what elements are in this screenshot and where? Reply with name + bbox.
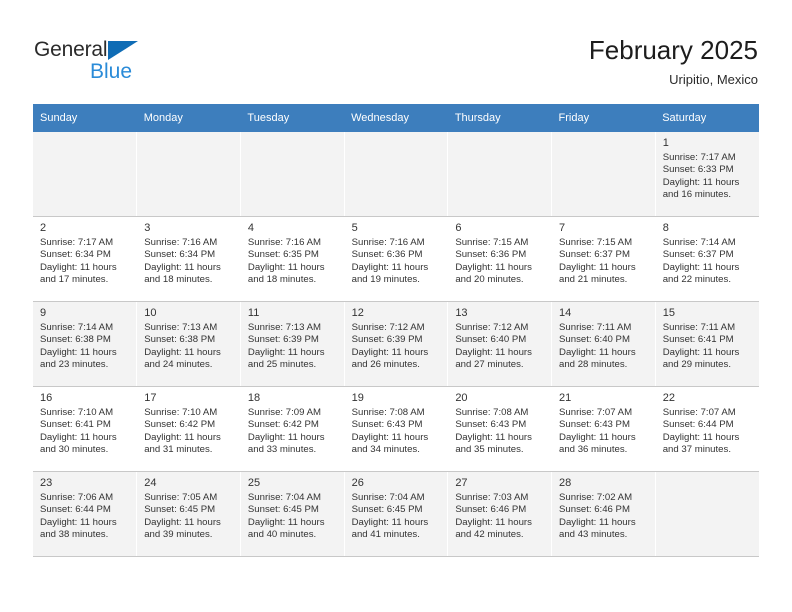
day-cell[interactable]: 3Sunrise: 7:16 AM Sunset: 6:34 PM Daylig… [137, 217, 241, 302]
day-cell[interactable]: 4Sunrise: 7:16 AM Sunset: 6:35 PM Daylig… [240, 217, 344, 302]
day-details: Sunrise: 7:08 AM Sunset: 6:43 PM Dayligh… [455, 407, 545, 457]
day-cell[interactable]: 2Sunrise: 7:17 AM Sunset: 6:34 PM Daylig… [33, 217, 137, 302]
calendar-page: General Blue February 2025 Uripitio, Mex… [0, 0, 792, 612]
day-number: 18 [248, 391, 338, 405]
day-number: 12 [352, 306, 442, 320]
day-number: 21 [559, 391, 649, 405]
day-number: 3 [144, 221, 234, 235]
day-number: 20 [455, 391, 545, 405]
day-details: Sunrise: 7:13 AM Sunset: 6:38 PM Dayligh… [144, 322, 234, 372]
day-cell[interactable]: 13Sunrise: 7:12 AM Sunset: 6:40 PM Dayli… [448, 302, 552, 387]
day-cell[interactable]: 23Sunrise: 7:06 AM Sunset: 6:44 PM Dayli… [33, 472, 137, 557]
day-cell[interactable]: 19Sunrise: 7:08 AM Sunset: 6:43 PM Dayli… [344, 387, 448, 472]
logo-triangle-icon [108, 41, 138, 60]
day-details: Sunrise: 7:17 AM Sunset: 6:33 PM Dayligh… [663, 152, 753, 202]
day-number: 25 [248, 476, 338, 490]
day-details: Sunrise: 7:10 AM Sunset: 6:42 PM Dayligh… [144, 407, 234, 457]
day-details: Sunrise: 7:14 AM Sunset: 6:38 PM Dayligh… [40, 322, 130, 372]
day-cell-empty [448, 132, 552, 217]
day-cell[interactable]: 26Sunrise: 7:04 AM Sunset: 6:45 PM Dayli… [344, 472, 448, 557]
calendar-header-row: Sunday Monday Tuesday Wednesday Thursday… [33, 104, 759, 132]
day-number: 23 [40, 476, 130, 490]
day-details: Sunrise: 7:16 AM Sunset: 6:34 PM Dayligh… [144, 237, 234, 287]
day-details: Sunrise: 7:14 AM Sunset: 6:37 PM Dayligh… [663, 237, 753, 287]
day-cell[interactable]: 5Sunrise: 7:16 AM Sunset: 6:36 PM Daylig… [344, 217, 448, 302]
day-cell[interactable]: 20Sunrise: 7:08 AM Sunset: 6:43 PM Dayli… [448, 387, 552, 472]
day-number: 8 [663, 221, 753, 235]
weekday-header-sunday: Sunday [33, 104, 137, 132]
day-number: 10 [144, 306, 234, 320]
day-details: Sunrise: 7:04 AM Sunset: 6:45 PM Dayligh… [248, 492, 338, 542]
day-cell[interactable]: 16Sunrise: 7:10 AM Sunset: 6:41 PM Dayli… [33, 387, 137, 472]
day-number: 2 [40, 221, 130, 235]
day-number: 17 [144, 391, 234, 405]
day-number: 28 [559, 476, 649, 490]
calendar-week-row: 1Sunrise: 7:17 AM Sunset: 6:33 PM Daylig… [33, 132, 759, 217]
day-number: 7 [559, 221, 649, 235]
calendar-week-row: 2Sunrise: 7:17 AM Sunset: 6:34 PM Daylig… [33, 217, 759, 302]
logo-text-general: General [34, 38, 107, 62]
day-details: Sunrise: 7:05 AM Sunset: 6:45 PM Dayligh… [144, 492, 234, 542]
day-cell[interactable]: 17Sunrise: 7:10 AM Sunset: 6:42 PM Dayli… [137, 387, 241, 472]
day-cell-empty [137, 132, 241, 217]
day-number: 5 [352, 221, 442, 235]
day-number: 15 [663, 306, 753, 320]
day-number: 9 [40, 306, 130, 320]
day-details: Sunrise: 7:07 AM Sunset: 6:43 PM Dayligh… [559, 407, 649, 457]
calendar-week-row: 23Sunrise: 7:06 AM Sunset: 6:44 PM Dayli… [33, 472, 759, 557]
day-cell-empty [552, 132, 656, 217]
day-details: Sunrise: 7:09 AM Sunset: 6:42 PM Dayligh… [248, 407, 338, 457]
general-blue-logo[interactable]: General Blue [34, 38, 234, 86]
day-cell[interactable]: 8Sunrise: 7:14 AM Sunset: 6:37 PM Daylig… [655, 217, 759, 302]
day-number: 16 [40, 391, 130, 405]
weekday-header-saturday: Saturday [655, 104, 759, 132]
day-details: Sunrise: 7:16 AM Sunset: 6:36 PM Dayligh… [352, 237, 442, 287]
day-cell-empty [344, 132, 448, 217]
day-number: 1 [663, 136, 753, 150]
page-subtitle-location: Uripitio, Mexico [589, 70, 758, 90]
weekday-header-wednesday: Wednesday [344, 104, 448, 132]
day-number: 13 [455, 306, 545, 320]
day-cell-empty [655, 472, 759, 557]
day-number: 11 [248, 306, 338, 320]
day-cell[interactable]: 15Sunrise: 7:11 AM Sunset: 6:41 PM Dayli… [655, 302, 759, 387]
day-cell[interactable]: 1Sunrise: 7:17 AM Sunset: 6:33 PM Daylig… [655, 132, 759, 217]
day-number: 4 [248, 221, 338, 235]
day-details: Sunrise: 7:16 AM Sunset: 6:35 PM Dayligh… [248, 237, 338, 287]
weekday-header-monday: Monday [137, 104, 241, 132]
day-details: Sunrise: 7:12 AM Sunset: 6:40 PM Dayligh… [455, 322, 545, 372]
day-details: Sunrise: 7:12 AM Sunset: 6:39 PM Dayligh… [352, 322, 442, 372]
page-header: General Blue February 2025 Uripitio, Mex… [0, 0, 792, 104]
day-cell[interactable]: 28Sunrise: 7:02 AM Sunset: 6:46 PM Dayli… [552, 472, 656, 557]
day-cell[interactable]: 6Sunrise: 7:15 AM Sunset: 6:36 PM Daylig… [448, 217, 552, 302]
day-number: 24 [144, 476, 234, 490]
calendar-table: Sunday Monday Tuesday Wednesday Thursday… [33, 104, 759, 557]
day-cell-empty [33, 132, 137, 217]
day-number: 19 [352, 391, 442, 405]
day-cell[interactable]: 27Sunrise: 7:03 AM Sunset: 6:46 PM Dayli… [448, 472, 552, 557]
day-cell[interactable]: 12Sunrise: 7:12 AM Sunset: 6:39 PM Dayli… [344, 302, 448, 387]
day-details: Sunrise: 7:15 AM Sunset: 6:37 PM Dayligh… [559, 237, 649, 287]
day-details: Sunrise: 7:13 AM Sunset: 6:39 PM Dayligh… [248, 322, 338, 372]
day-cell[interactable]: 11Sunrise: 7:13 AM Sunset: 6:39 PM Dayli… [240, 302, 344, 387]
day-cell[interactable]: 22Sunrise: 7:07 AM Sunset: 6:44 PM Dayli… [655, 387, 759, 472]
day-number: 27 [455, 476, 545, 490]
weekday-header-tuesday: Tuesday [240, 104, 344, 132]
day-details: Sunrise: 7:15 AM Sunset: 6:36 PM Dayligh… [455, 237, 545, 287]
title-block: February 2025 Uripitio, Mexico [589, 34, 758, 90]
day-cell[interactable]: 7Sunrise: 7:15 AM Sunset: 6:37 PM Daylig… [552, 217, 656, 302]
day-cell[interactable]: 18Sunrise: 7:09 AM Sunset: 6:42 PM Dayli… [240, 387, 344, 472]
day-number: 6 [455, 221, 545, 235]
calendar-week-row: 16Sunrise: 7:10 AM Sunset: 6:41 PM Dayli… [33, 387, 759, 472]
logo-text-blue: Blue [90, 60, 132, 84]
page-title: February 2025 [589, 34, 758, 66]
weekday-header-thursday: Thursday [448, 104, 552, 132]
day-cell[interactable]: 14Sunrise: 7:11 AM Sunset: 6:40 PM Dayli… [552, 302, 656, 387]
calendar-week-row: 9Sunrise: 7:14 AM Sunset: 6:38 PM Daylig… [33, 302, 759, 387]
day-details: Sunrise: 7:17 AM Sunset: 6:34 PM Dayligh… [40, 237, 130, 287]
weekday-header-friday: Friday [552, 104, 656, 132]
day-details: Sunrise: 7:11 AM Sunset: 6:41 PM Dayligh… [663, 322, 753, 372]
day-details: Sunrise: 7:02 AM Sunset: 6:46 PM Dayligh… [559, 492, 649, 542]
day-cell[interactable]: 24Sunrise: 7:05 AM Sunset: 6:45 PM Dayli… [137, 472, 241, 557]
day-cell-empty [240, 132, 344, 217]
day-details: Sunrise: 7:06 AM Sunset: 6:44 PM Dayligh… [40, 492, 130, 542]
day-number: 26 [352, 476, 442, 490]
day-cell[interactable]: 9Sunrise: 7:14 AM Sunset: 6:38 PM Daylig… [33, 302, 137, 387]
day-details: Sunrise: 7:03 AM Sunset: 6:46 PM Dayligh… [455, 492, 545, 542]
day-details: Sunrise: 7:11 AM Sunset: 6:40 PM Dayligh… [559, 322, 649, 372]
calendar-body: 1Sunrise: 7:17 AM Sunset: 6:33 PM Daylig… [33, 132, 759, 557]
day-details: Sunrise: 7:07 AM Sunset: 6:44 PM Dayligh… [663, 407, 753, 457]
day-details: Sunrise: 7:08 AM Sunset: 6:43 PM Dayligh… [352, 407, 442, 457]
day-number: 22 [663, 391, 753, 405]
day-details: Sunrise: 7:10 AM Sunset: 6:41 PM Dayligh… [40, 407, 130, 457]
logo-top-row: General [34, 38, 234, 63]
day-cell[interactable]: 21Sunrise: 7:07 AM Sunset: 6:43 PM Dayli… [552, 387, 656, 472]
day-cell[interactable]: 10Sunrise: 7:13 AM Sunset: 6:38 PM Dayli… [137, 302, 241, 387]
day-number: 14 [559, 306, 649, 320]
day-cell[interactable]: 25Sunrise: 7:04 AM Sunset: 6:45 PM Dayli… [240, 472, 344, 557]
day-details: Sunrise: 7:04 AM Sunset: 6:45 PM Dayligh… [352, 492, 442, 542]
